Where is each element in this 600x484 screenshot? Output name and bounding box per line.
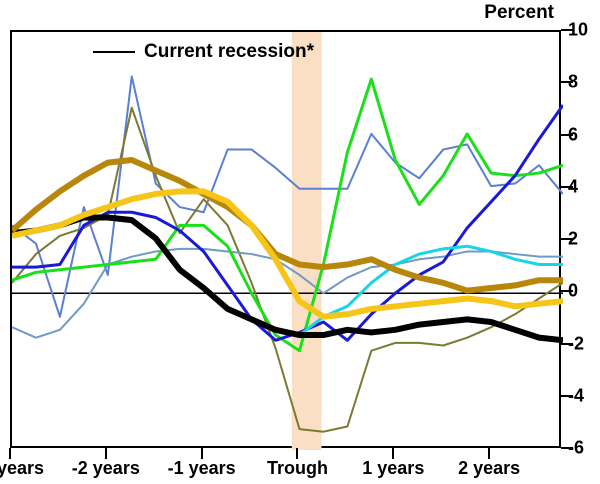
x-tick-label: -2 years [72,458,140,479]
legend-swatch-current-recession [93,51,135,53]
y-tick-label: 8 [568,72,578,93]
y-tick-label: -2 [568,333,584,354]
plot-area [10,30,561,448]
y-tick-label: 2 [568,229,578,250]
x-tick-label: 2 years [458,458,520,479]
x-tick-label: -1 years [168,458,236,479]
series-line-series-yellow [12,191,563,316]
y-tick-label: 0 [568,281,578,302]
x-tick-label: -3 years [0,458,44,479]
page-title: Percent [484,2,554,24]
y-tick-label: 4 [568,176,578,197]
y-tick-label: 10 [568,20,588,41]
legend: Current recession* [93,42,314,61]
chart-lines [12,32,563,450]
y-tick-label: 6 [568,124,578,145]
y-tick-label: -4 [568,385,584,406]
recession-shading [292,32,322,450]
chart-root: Percent Current recession* 1086420-2-4-6… [0,0,600,484]
x-tick-label: Trough [267,458,328,479]
x-tick-label: 1 years [362,458,424,479]
legend-label-current-recession: Current recession* [144,42,314,61]
y-tick-label: -6 [568,438,584,459]
